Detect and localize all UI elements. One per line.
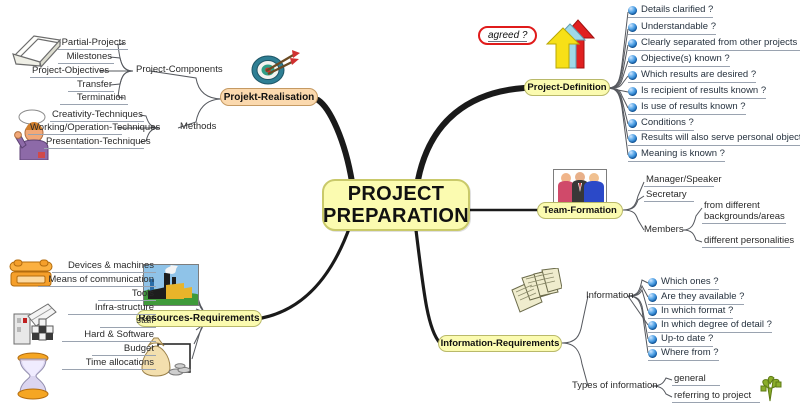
leaf-creativity-techniques[interactable]: Creativity-Techniques xyxy=(50,109,144,122)
leaf-clearly-separated[interactable]: Clearly separated from other projects ? xyxy=(628,37,800,51)
central-topic[interactable]: PROJECT PREPARATION xyxy=(322,179,470,231)
leaf-project-objectives[interactable]: Project-Objectives xyxy=(30,65,104,78)
hourglass-icon xyxy=(14,352,52,400)
leaf-label: In which format ? xyxy=(661,305,733,317)
bullet-icon xyxy=(628,87,637,96)
leaf-manager-speaker[interactable]: Manager/Speaker xyxy=(644,174,714,187)
agreed-callout-text: agreed ? xyxy=(488,30,527,42)
leaf-conditions[interactable]: Conditions ? xyxy=(628,117,694,131)
leaf-label: Meaning is known ? xyxy=(641,148,725,160)
leaf-label: Which ones ? xyxy=(661,276,719,288)
leaf-up-to-date[interactable]: Up-to date ? xyxy=(648,333,713,347)
leaf-use-of-results-known[interactable]: Is use of results known ? xyxy=(628,101,746,115)
leaf-meaning-known[interactable]: Meaning is known ? xyxy=(628,148,725,162)
group-information[interactable]: Information xyxy=(586,290,634,301)
branch-project-definition[interactable]: Project-Definition xyxy=(524,79,610,96)
leaf-label: Clearly separated from other projects ? xyxy=(641,37,800,49)
leaf-label: Up-to date ? xyxy=(661,333,713,345)
leaf-where-from[interactable]: Where from ? xyxy=(648,347,719,361)
group-types-of-information[interactable]: Types of information xyxy=(572,380,658,391)
group-methods[interactable]: Methods xyxy=(180,121,216,132)
bullet-icon xyxy=(648,321,657,330)
leaf-understandable[interactable]: Understandable ? xyxy=(628,21,716,35)
central-topic-line1: PROJECT xyxy=(348,183,445,205)
leaf-which-results-desired[interactable]: Which results are desired ? xyxy=(628,69,756,83)
leaf-are-they-available[interactable]: Are they available ? xyxy=(648,291,744,305)
bullet-icon xyxy=(628,150,637,159)
leaf-hard-software[interactable]: Hard & Software xyxy=(62,329,156,342)
leaf-label: Objective(s) known ? xyxy=(641,53,730,65)
leaf-members-different-personalities[interactable]: different personalities xyxy=(702,235,790,248)
leaf-label: Are they available ? xyxy=(661,291,744,303)
leaf-general[interactable]: general xyxy=(672,373,720,386)
leaf-label: Results will also serve personal objecti… xyxy=(641,132,800,144)
bullet-icon xyxy=(628,39,637,48)
branch-team-formation[interactable]: Team-Formation xyxy=(537,202,623,219)
central-topic-line2: PREPARATION xyxy=(323,205,469,227)
leaf-label: Which results are desired ? xyxy=(641,69,756,81)
leaf-recipient-known[interactable]: Is recipient of results known ? xyxy=(628,85,766,99)
books-icon xyxy=(10,30,62,70)
leaf-label: Where from ? xyxy=(661,347,719,359)
leaf-staff[interactable]: staff xyxy=(100,315,156,328)
bullet-icon xyxy=(628,23,637,32)
leaf-in-which-degree-of-detail[interactable]: In which degree of detail ? xyxy=(648,319,772,333)
leaf-label: Is recipient of results known ? xyxy=(641,85,766,97)
leaf-means-of-communication[interactable]: Means of communication xyxy=(38,274,156,287)
arrows-up-icon xyxy=(542,16,598,70)
leaf-which-ones[interactable]: Which ones ? xyxy=(648,276,719,290)
leaf-referring-to-project[interactable]: referring to project xyxy=(672,390,760,403)
bullet-icon xyxy=(648,335,657,344)
leaf-working-operation-techniques[interactable]: Working/Operation-Techniques xyxy=(28,122,122,135)
leaf-personal-objectives[interactable]: Results will also serve personal objecti… xyxy=(628,132,800,146)
target-arrows-icon xyxy=(248,44,300,88)
team-photo xyxy=(553,169,607,206)
bullet-icon xyxy=(628,119,637,128)
branch-information-requirements[interactable]: Information-Requirements xyxy=(438,335,562,352)
leaf-infra-structure[interactable]: Infra-structure xyxy=(68,302,156,315)
leaf-partial-projects[interactable]: Partial-Projects xyxy=(58,37,128,50)
leaf-label: In which degree of detail ? xyxy=(661,319,772,331)
leaf-time-allocations[interactable]: Time allocations xyxy=(62,357,156,370)
leaf-devices-machines[interactable]: Devices & machines xyxy=(52,260,156,273)
agreed-callout[interactable]: agreed ? xyxy=(478,26,537,45)
bullet-icon xyxy=(628,134,637,143)
leaf-label: Details clarified ? xyxy=(641,4,713,16)
bullet-icon xyxy=(648,349,657,358)
leaf-details-clarified[interactable]: Details clarified ? xyxy=(628,4,713,18)
mindmap-canvas: agreed ? xyxy=(0,0,800,406)
bullet-icon xyxy=(648,293,657,302)
leaf-termination[interactable]: Termination xyxy=(60,92,128,105)
leaf-transfer[interactable]: Transfer xyxy=(68,79,114,92)
bullet-icon xyxy=(628,55,637,64)
bullet-icon xyxy=(628,103,637,112)
leaf-label: Conditions ? xyxy=(641,117,694,129)
bullet-icon xyxy=(628,71,637,80)
leaf-label: Understandable ? xyxy=(641,21,716,33)
leaf-tools[interactable]: Tools xyxy=(98,288,156,301)
branch-projekt-realisation[interactable]: Projekt-Realisation xyxy=(220,88,318,106)
newspapers-icon xyxy=(508,268,562,316)
group-members[interactable]: Members xyxy=(644,224,684,235)
leaf-label: Is use of results known ? xyxy=(641,101,746,113)
bullet-icon xyxy=(648,278,657,287)
bullet-icon xyxy=(648,307,657,316)
leaf-in-which-format[interactable]: In which format ? xyxy=(648,305,733,319)
leaf-presentation-techniques[interactable]: Presentation-Techniques xyxy=(44,136,144,149)
tools-gears-icon xyxy=(10,302,58,348)
leaf-secretary[interactable]: Secretary xyxy=(644,189,694,202)
leaf-objectives-known[interactable]: Objective(s) known ? xyxy=(628,53,730,67)
leaf-milestones[interactable]: Milestones xyxy=(58,51,114,64)
group-project-components[interactable]: Project-Components xyxy=(136,64,223,75)
leaf-budget[interactable]: Budget xyxy=(92,343,156,356)
bullet-icon xyxy=(628,6,637,15)
leaf-members-backgrounds-areas[interactable]: backgrounds/areas xyxy=(702,211,786,224)
plant-icon xyxy=(756,374,786,402)
